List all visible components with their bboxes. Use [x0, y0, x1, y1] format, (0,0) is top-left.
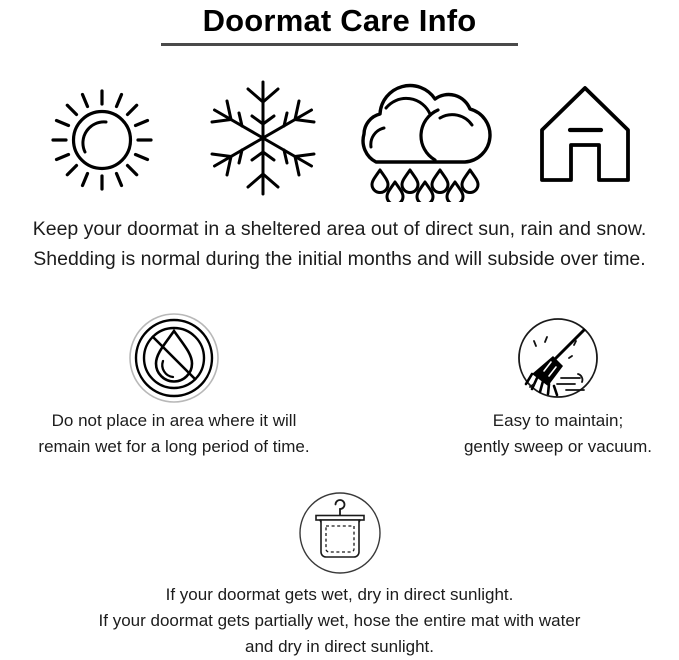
drying-caption-line-3: and dry in direct sunlight. — [0, 634, 679, 660]
house-icon — [522, 72, 662, 202]
drying-caption-line-1: If your doormat gets wet, dry in direct … — [0, 582, 679, 608]
sun-icon — [40, 72, 170, 202]
hang-dry-badge — [0, 490, 679, 580]
drying-caption: If your doormat gets wet, dry in direct … — [0, 582, 679, 660]
page-title: Doormat Care Info — [0, 0, 679, 40]
hang-dry-icon — [297, 490, 383, 576]
intro-paragraph: Keep your doormat in a sheltered area ou… — [0, 214, 679, 274]
title-underline-rule — [161, 43, 518, 46]
drying-caption-line-2: If your doormat gets partially wet, hose… — [0, 608, 679, 634]
care-items-row: Do not place in area where it will remai… — [0, 312, 679, 462]
no-water-caption-line-1: Do not place in area where it will — [24, 408, 324, 434]
broom-badge — [408, 312, 679, 404]
care-item-easy-maintain: Easy to maintain; gently sweep or vacuum… — [408, 312, 679, 460]
easy-maintain-caption-line-1: Easy to maintain; — [408, 408, 679, 434]
easy-maintain-caption: Easy to maintain; gently sweep or vacuum… — [408, 408, 679, 460]
no-water-caption: Do not place in area where it will remai… — [24, 408, 324, 460]
drying-instructions-block: If your doormat gets wet, dry in direct … — [0, 490, 679, 660]
no-water-badge — [24, 312, 324, 404]
easy-maintain-caption-line-2: gently sweep or vacuum. — [408, 434, 679, 460]
no-water-caption-line-2: remain wet for a long period of time. — [24, 434, 324, 460]
doormat-care-info-page: Doormat Care Info — [0, 0, 679, 655]
no-water-icon — [128, 312, 220, 404]
title-block: Doormat Care Info — [0, 0, 679, 46]
rain-cloud-icon — [352, 72, 497, 202]
snowflake-icon — [198, 72, 328, 202]
intro-line-2: Shedding is normal during the initial mo… — [0, 244, 679, 274]
weather-icon-row — [0, 72, 679, 202]
intro-line-1: Keep your doormat in a sheltered area ou… — [0, 214, 679, 244]
broom-icon — [512, 312, 604, 404]
care-item-no-water: Do not place in area where it will remai… — [24, 312, 324, 460]
